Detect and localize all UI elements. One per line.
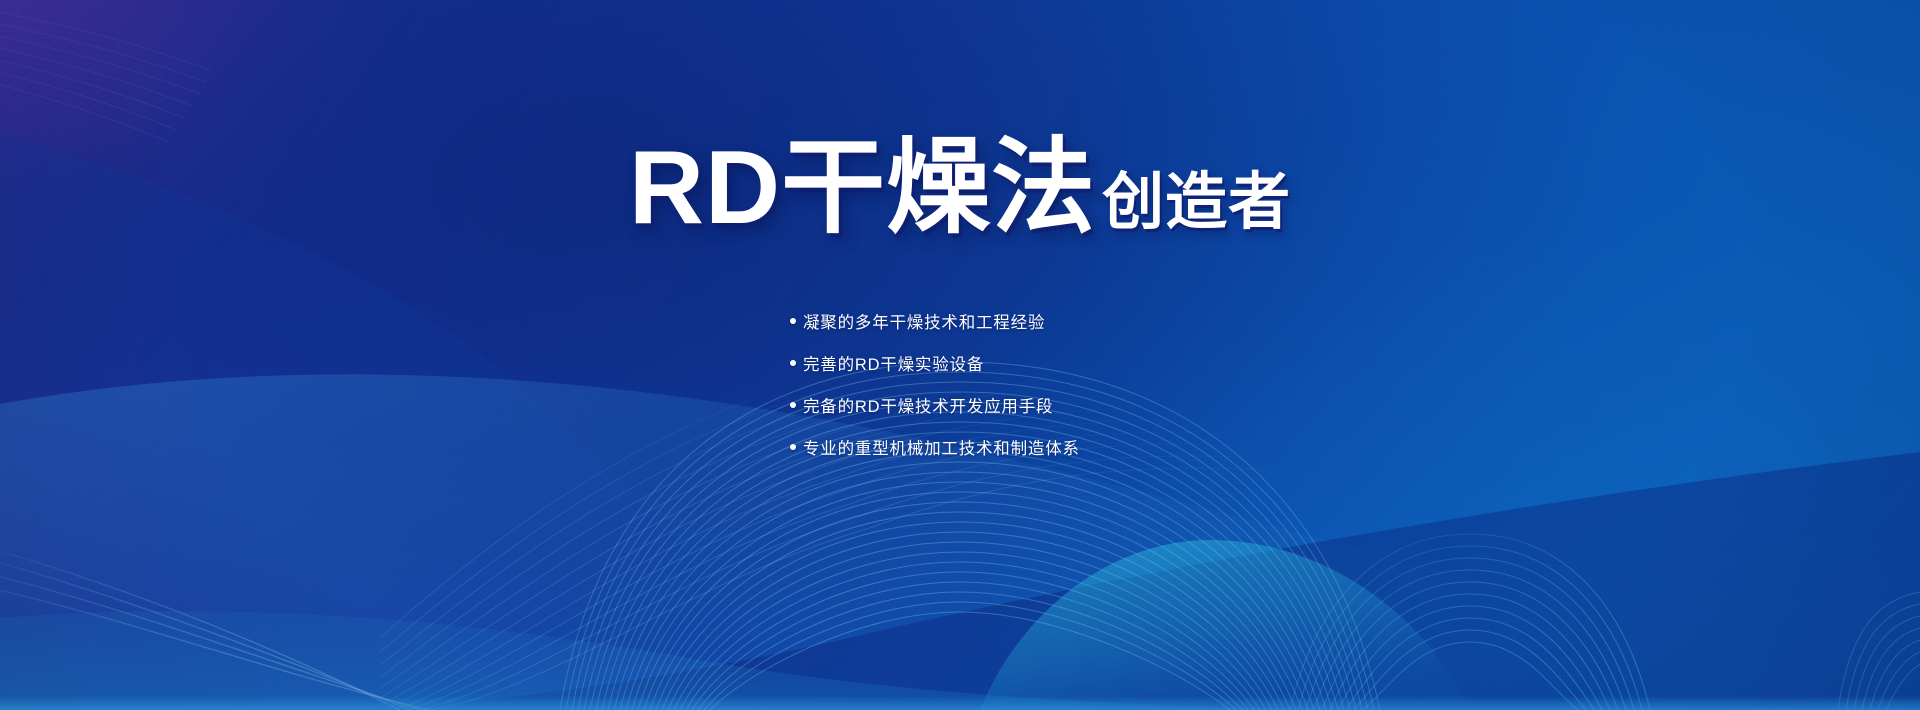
headline-secondary: 创造者	[1102, 172, 1291, 234]
bullet-text: 完善的RD干燥实验设备	[803, 351, 984, 375]
bullet-text: 完备的RD干燥技术开发应用手段	[803, 393, 1053, 417]
bullet-dot-icon	[790, 444, 796, 450]
feature-bullet-list: 凝聚的多年干燥技术和工程经验 完善的RD干燥实验设备 完备的RD干燥技术开发应用…	[790, 306, 1080, 462]
list-item: 凝聚的多年干燥技术和工程经验	[790, 306, 1080, 336]
bullet-dot-icon	[790, 402, 796, 408]
headline: RD干燥法创造者	[0, 136, 1920, 240]
banner-content: RD干燥法创造者 凝聚的多年干燥技术和工程经验 完善的RD干燥实验设备 完备的R…	[0, 0, 1920, 710]
list-item: 专业的重型机械加工技术和制造体系	[790, 432, 1080, 462]
bullet-dot-icon	[790, 360, 796, 366]
hero-banner: RD干燥法创造者 凝聚的多年干燥技术和工程经验 完善的RD干燥实验设备 完备的R…	[0, 0, 1920, 710]
bullet-dot-icon	[790, 318, 796, 324]
bullet-text: 专业的重型机械加工技术和制造体系	[803, 435, 1080, 459]
list-item: 完备的RD干燥技术开发应用手段	[790, 390, 1080, 420]
list-item: 完善的RD干燥实验设备	[790, 348, 1080, 378]
headline-primary: RD干燥法	[629, 136, 1096, 240]
bullet-text: 凝聚的多年干燥技术和工程经验	[803, 309, 1045, 333]
